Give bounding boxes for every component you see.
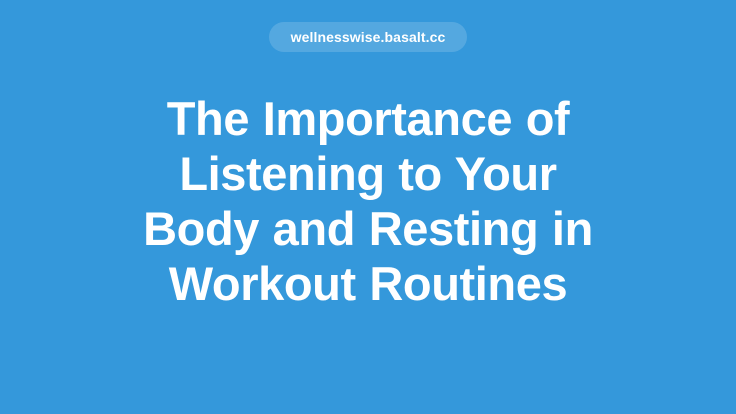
page-title-line-3: Body and Resting in xyxy=(70,201,666,256)
page-title: The Importance of Listening to Your Body… xyxy=(0,91,736,311)
page-title-line-1: The Importance of xyxy=(70,91,666,146)
url-badge-label: wellnesswise.basalt.cc xyxy=(291,30,446,44)
promo-card: wellnesswise.basalt.cc The Importance of… xyxy=(0,0,736,414)
url-badge: wellnesswise.basalt.cc xyxy=(269,22,468,52)
page-title-line-4: Workout Routines xyxy=(70,256,666,311)
page-title-line-2: Listening to Your xyxy=(70,146,666,201)
